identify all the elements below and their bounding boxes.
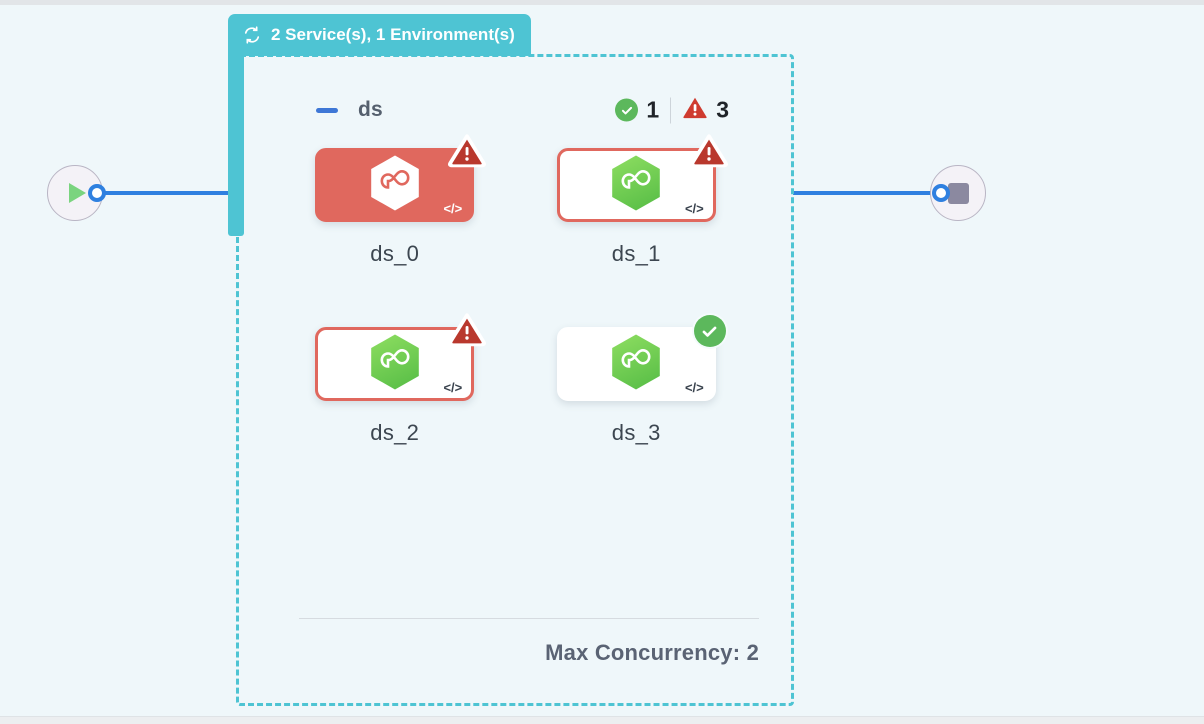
group-body: ds 1	[244, 62, 787, 698]
group-tab-header[interactable]: 2 Service(s), 1 Environment(s)	[228, 14, 531, 56]
error-count: 3	[716, 97, 729, 124]
service-cell: </> ds_3	[516, 327, 758, 446]
warning-triangle-icon	[690, 134, 728, 168]
start-node-output-port[interactable]	[88, 184, 106, 202]
service-cell: </> ds_0	[274, 148, 516, 267]
group-header-row: ds 1	[274, 90, 757, 130]
service-card-wrapper[interactable]: </>	[557, 148, 716, 222]
hexagon-infinity-logo	[609, 333, 663, 396]
warning-triangle-icon	[448, 134, 486, 168]
panel-divider	[299, 618, 759, 619]
edge-start-to-group	[100, 191, 236, 195]
check-circle-icon	[615, 99, 638, 122]
window-top-strip	[0, 0, 1204, 5]
code-icon: </>	[443, 201, 462, 216]
workflow-canvas[interactable]: 2 Service(s), 1 Environment(s) ds 1	[0, 0, 1204, 724]
code-icon: </>	[443, 380, 462, 395]
service-card-wrapper[interactable]: </>	[315, 327, 474, 401]
service-label: ds_3	[612, 420, 661, 446]
service-label: ds_1	[612, 241, 661, 267]
error-count-group: 3	[682, 96, 729, 125]
service-label: ds_0	[370, 241, 419, 267]
service-card-wrapper[interactable]: </>	[315, 148, 474, 222]
group-tab-label: 2 Service(s), 1 Environment(s)	[271, 25, 515, 45]
end-node-input-port[interactable]	[932, 184, 950, 202]
cycle-loop-icon	[242, 25, 262, 45]
service-card-wrapper[interactable]: </>	[557, 327, 716, 401]
group-title: ds	[358, 98, 383, 122]
ok-count: 1	[646, 97, 659, 124]
minus-icon[interactable]	[316, 108, 338, 113]
window-bottom-strip	[0, 716, 1204, 724]
play-icon	[69, 183, 86, 203]
service-label: ds_2	[370, 420, 419, 446]
hexagon-infinity-logo	[368, 154, 422, 217]
edge-group-to-end	[793, 191, 941, 195]
service-card[interactable]: </>	[557, 327, 716, 401]
warning-triangle-icon	[682, 96, 708, 125]
status-divider	[670, 97, 671, 123]
service-grid: </> ds_0	[274, 148, 757, 446]
code-icon: </>	[685, 380, 704, 395]
hexagon-infinity-logo	[368, 333, 422, 396]
service-cell: </> ds_1	[516, 148, 758, 267]
max-concurrency-label: Max Concurrency: 2	[545, 640, 759, 666]
stop-icon	[948, 183, 969, 204]
hexagon-infinity-logo	[609, 154, 663, 217]
code-icon: </>	[685, 201, 704, 216]
status-counts: 1 3	[615, 96, 729, 125]
check-circle-icon	[694, 315, 726, 347]
warning-triangle-icon	[448, 313, 486, 347]
service-cell: </> ds_2	[274, 327, 516, 446]
ok-count-group: 1	[615, 97, 659, 124]
